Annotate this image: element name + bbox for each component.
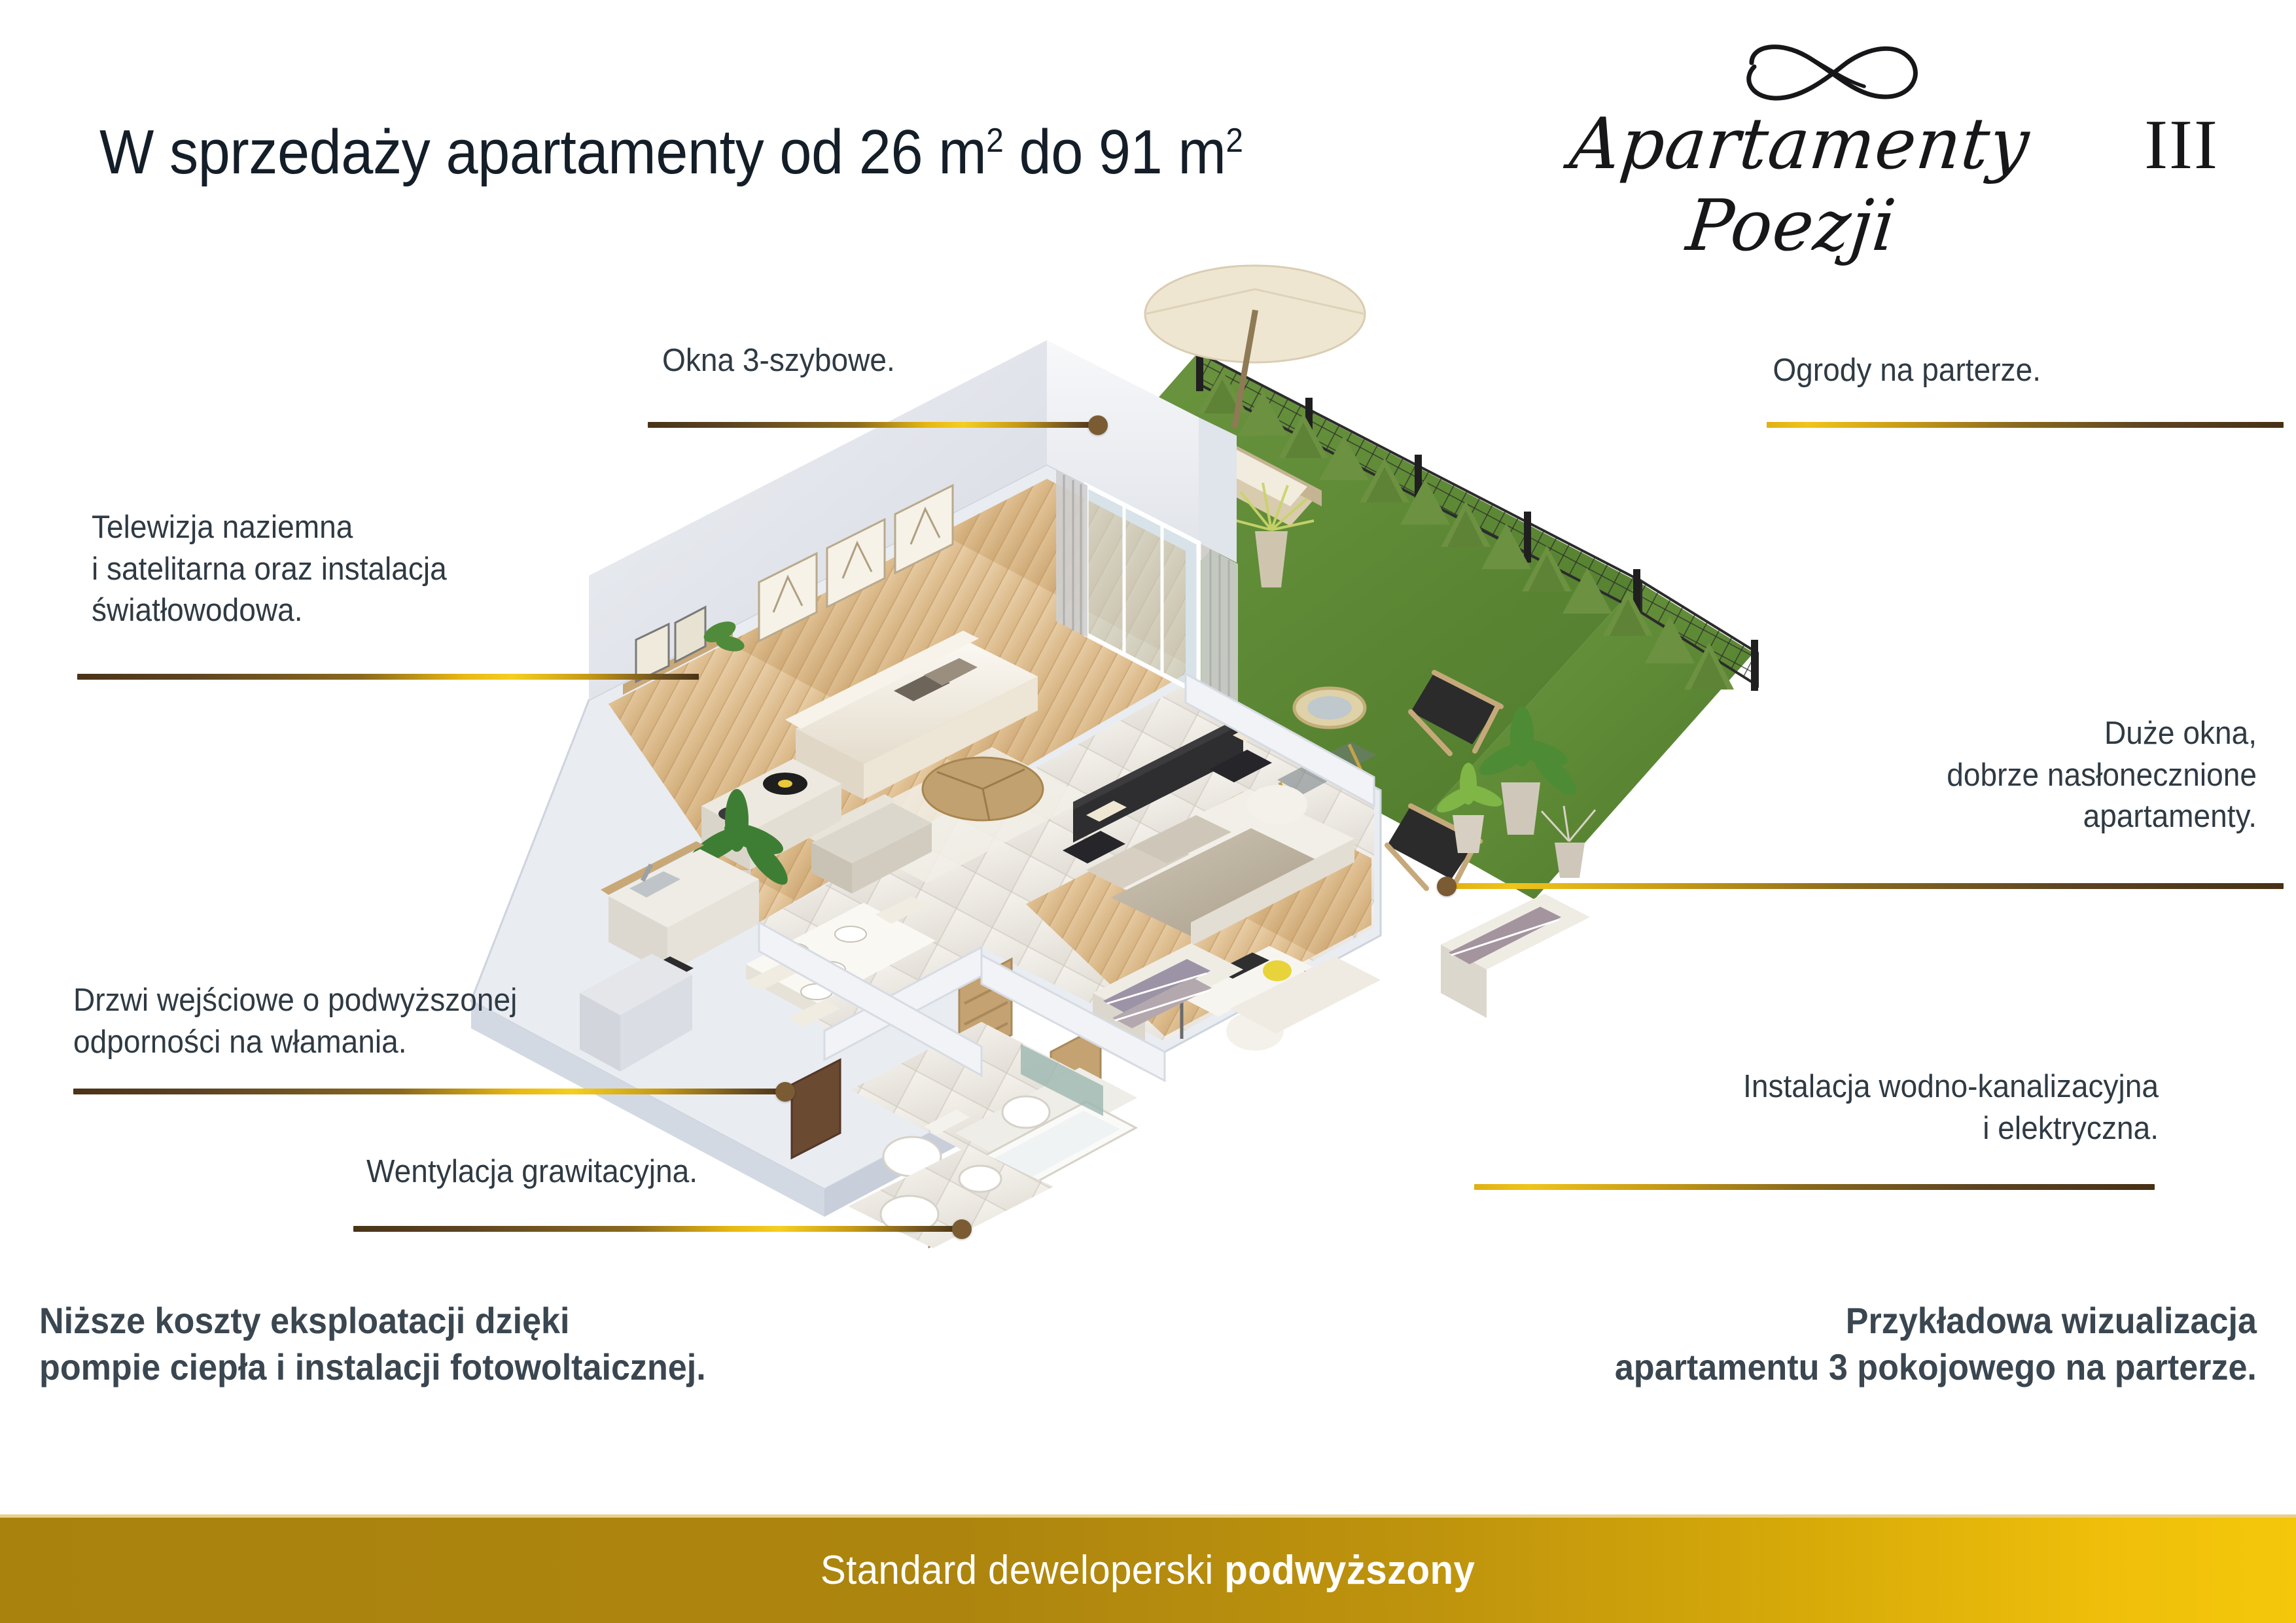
connector-rule-telewizja [77,674,699,680]
wardrobe-2 [1441,894,1590,1018]
washbasin [1002,1096,1050,1128]
banner-prefix: Standard deweloperski [821,1548,1224,1593]
connector-rule-ogrody [1767,422,2284,428]
page-headline: W sprzedaży apartamenty od 26 m2 do 91 m… [99,116,1243,188]
callout-label: Telewizja naziemna i satelitarna oraz in… [92,507,447,632]
connector-rule-duze-okna [1446,883,2284,889]
connector-dot-okna [1088,415,1108,435]
area-min: 26 m [859,117,987,187]
ribbon-flourish-icon [1447,37,2219,107]
area-separator: do [1003,117,1098,187]
callout-label: Drzwi wejściowe o podwyższonej odpornośc… [73,980,517,1063]
callout-ogrody-na-parterze: Ogrody na parterze. [1452,350,2041,392]
curtains-left [1056,470,1087,637]
banner-text: Standard deweloperski podwyższony [821,1547,1475,1594]
callout-label: Wentylacja grawitacyjna. [366,1151,698,1193]
connector-dot-drzwi [775,1082,795,1102]
sup-2-b: 2 [1226,122,1243,160]
callout-label: Ogrody na parterze. [1487,350,2041,392]
callout-drzwi-wejsciowe: Drzwi wejściowe o podwyższonej odpornośc… [73,980,546,1063]
logo-numeral: III [2144,105,2219,186]
callout-label: Okna 3-szybowe. [662,340,895,382]
callout-wentylacja: Wentylacja grawitacyjna. [366,1151,718,1193]
callout-label: Duże okna, dobrze nasłonecznione apartam… [1580,713,2257,838]
connector-rule-drzwi [73,1089,786,1094]
headline-text: W sprzedaży apartamenty od [99,117,859,187]
callout-label: Instalacja wodno-kanalizacyjna i elektry… [1421,1066,2159,1149]
callout-instalacja-wodno: Instalacja wodno-kanalizacyjna i elektry… [1373,1066,2159,1149]
standard-banner: Standard deweloperski podwyższony [0,1514,2296,1623]
callout-duze-okna: Duże okna, dobrze nasłonecznione apartam… [1537,713,2257,838]
connector-dot-wentylacja [952,1219,972,1239]
connector-rule-instalacja [1474,1184,2155,1190]
connector-rule-wentylacja [353,1226,962,1232]
coffee-table [923,758,1043,820]
area-max: 91 m [1099,117,1226,187]
brand-logo: Apartamenty Poezji III [1447,37,2219,267]
banner-emphasis: podwyższony [1225,1548,1475,1593]
connector-dot-duze-okna [1437,877,1457,896]
note-visualization-disclaimer: Przykładowa wizualizacja apartamentu 3 p… [1615,1298,2257,1390]
connector-rule-okna [648,422,1099,428]
callout-telewizja: Telewizja naziemna i satelitarna oraz in… [92,507,469,632]
note-energy-costs: Niższe koszty eksploatacji dzięki pompie… [39,1298,706,1390]
callout-okna-3-szybowe: Okna 3-szybowe. [662,340,910,382]
sup-2-a: 2 [986,122,1003,160]
